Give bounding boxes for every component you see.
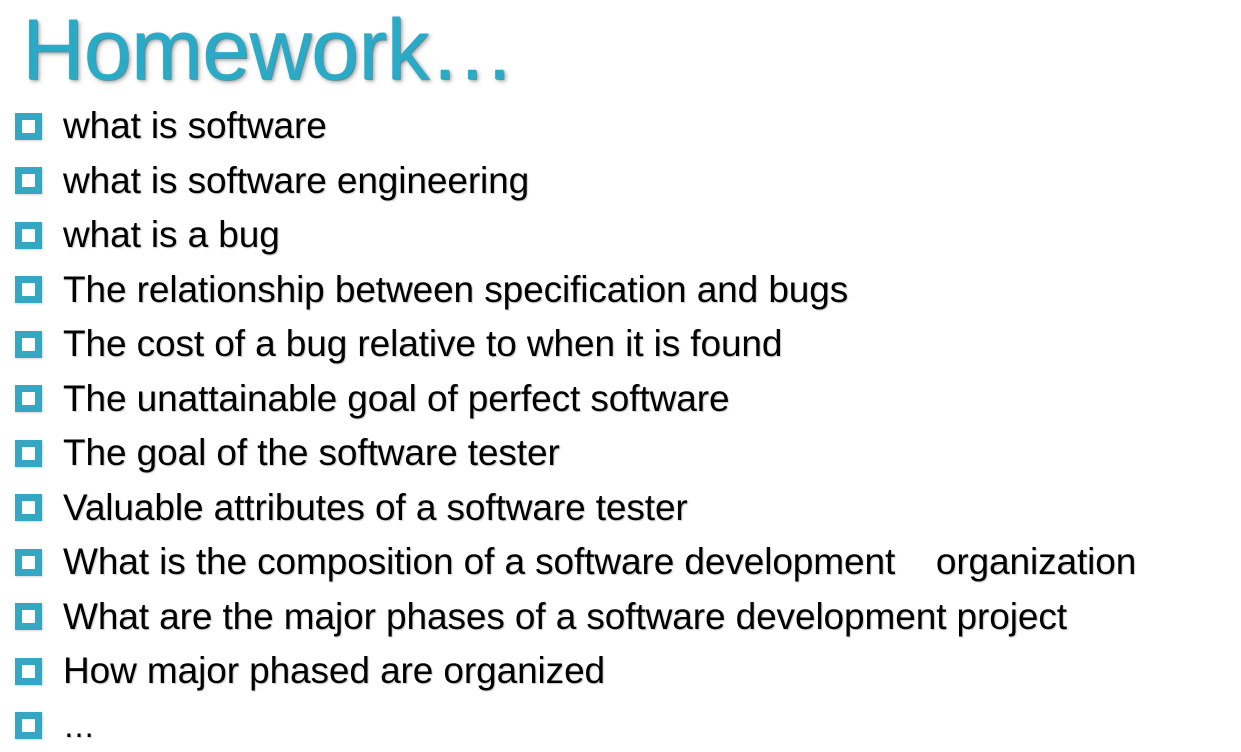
hollow-square-bullet-icon: [15, 658, 42, 685]
list-item-label: How major phased are organized: [63, 649, 1241, 693]
hollow-square-bullet-icon: [15, 167, 42, 194]
list-item-label: Valuable attributes of a software tester: [63, 486, 1241, 530]
hollow-square-bullet-icon: [15, 603, 42, 630]
list-item-label: The cost of a bug relative to when it is…: [63, 322, 1241, 366]
hollow-square-bullet-icon: [15, 712, 42, 739]
list-item[interactable]: How major phased are organized: [0, 644, 1241, 699]
list-item[interactable]: what is a bug: [0, 208, 1241, 263]
list-item[interactable]: The cost of a bug relative to when it is…: [0, 317, 1241, 372]
page-title: Homework…: [22, 2, 514, 98]
list-item-label: The unattainable goal of perfect softwar…: [63, 377, 1241, 421]
hollow-square-bullet-icon: [15, 276, 42, 303]
list-item-label: what is software: [63, 104, 1241, 148]
list-item-label: what is a bug: [63, 213, 1241, 257]
hollow-square-bullet-icon: [15, 113, 42, 140]
hollow-square-bullet-icon: [15, 494, 42, 521]
list-item[interactable]: Valuable attributes of a software tester: [0, 481, 1241, 536]
hollow-square-bullet-icon: [15, 222, 42, 249]
list-item-label: what is software engineering: [63, 159, 1241, 203]
list-item[interactable]: The goal of the software tester: [0, 426, 1241, 481]
list-item-label: …: [63, 704, 1241, 748]
list-item-label: What are the major phases of a software …: [63, 595, 1241, 639]
list-item[interactable]: What are the major phases of a software …: [0, 590, 1241, 645]
list-item-label: What is the composition of a software de…: [63, 540, 1241, 584]
list-item[interactable]: what is software engineering: [0, 154, 1241, 209]
homework-topic-list: what is software what is software engine…: [0, 99, 1241, 752]
list-item[interactable]: …: [0, 699, 1241, 752]
list-item[interactable]: what is software: [0, 99, 1241, 154]
hollow-square-bullet-icon: [15, 331, 42, 358]
hollow-square-bullet-icon: [15, 549, 42, 576]
list-item[interactable]: The unattainable goal of perfect softwar…: [0, 372, 1241, 427]
list-item[interactable]: What is the composition of a software de…: [0, 535, 1241, 590]
hollow-square-bullet-icon: [15, 385, 42, 412]
presentation-slide: Homework… what is software what is softw…: [0, 0, 1241, 752]
list-item-label: The relationship between specification a…: [63, 268, 1241, 312]
hollow-square-bullet-icon: [15, 440, 42, 467]
list-item-label: The goal of the software tester: [63, 431, 1241, 475]
list-item[interactable]: The relationship between specification a…: [0, 263, 1241, 318]
